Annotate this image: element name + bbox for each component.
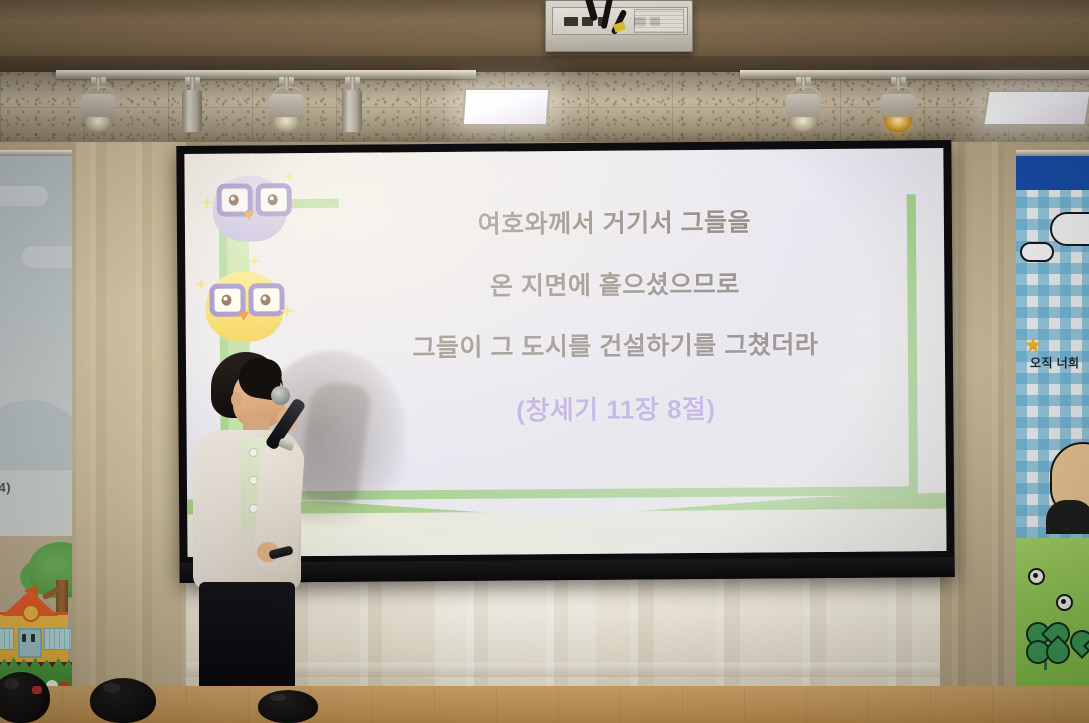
head-highlight — [103, 683, 120, 693]
banner-right-character-hair — [1046, 500, 1089, 534]
banner-right: 오직 너희 — [1016, 150, 1089, 712]
curtain-hem — [436, 662, 596, 677]
banner-right-clover — [1022, 620, 1076, 676]
banner-left-text: -14) — [0, 480, 58, 495]
track-light-can — [342, 90, 362, 132]
banner-left-roof-window — [22, 604, 40, 622]
ceiling-panel-light-right — [982, 90, 1089, 126]
sparkle-icon — [284, 171, 294, 181]
slide-scripture-reference: (창세기 11장 8절) — [336, 387, 895, 428]
owl-pupil — [268, 194, 278, 205]
head-highlight — [270, 694, 286, 701]
banner-right-flower — [1028, 568, 1045, 585]
stage-floor — [0, 686, 1089, 723]
ceiling-projector — [545, 0, 693, 52]
track-light-1 — [78, 77, 118, 137]
owl-pupil — [260, 294, 270, 305]
owl-lens — [248, 283, 284, 316]
audience-head — [0, 672, 50, 723]
owl-pupil — [221, 295, 231, 306]
track-light-lens — [272, 117, 300, 132]
curtain-hem — [596, 662, 940, 677]
sparkle-icon — [249, 255, 260, 266]
presenter-button — [249, 448, 258, 457]
owl-character-purple-icon — [206, 165, 297, 252]
hair-clip — [32, 686, 42, 694]
owl-lens — [256, 183, 292, 216]
banner-left-door — [18, 628, 42, 658]
track-light-5 — [783, 77, 823, 137]
audience-head — [90, 678, 156, 723]
presenter-ear — [231, 392, 242, 407]
banner-left-sky — [0, 156, 72, 536]
track-light-6 — [878, 77, 918, 139]
curtain-left-panel — [76, 142, 186, 687]
banner-left-door-detail — [22, 634, 26, 642]
banner-right-clover — [1070, 630, 1089, 674]
track-light-3 — [266, 77, 306, 137]
owl-pupil — [229, 195, 239, 206]
projector-spec-label — [634, 9, 684, 33]
microphone-head — [271, 386, 290, 405]
track-light-stem — [190, 77, 195, 90]
banner-left-window — [44, 628, 72, 650]
track-light-can — [182, 90, 202, 132]
audience-head — [258, 690, 318, 723]
presentation-scene: -14) 오직 너희 — [0, 0, 1089, 723]
banner-right-text: 오직 너희 — [1030, 354, 1089, 371]
track-light-4 — [332, 77, 372, 137]
slide-text-block: 여호와께서 거기서 그들을 온 지면에 흩으셨으므로 그들이 그 도시를 건설하… — [335, 208, 896, 454]
banner-left-cloud — [0, 186, 48, 206]
sparkle-icon — [195, 278, 207, 290]
banner-right-cloud — [1020, 242, 1054, 262]
track-light-lens — [84, 117, 112, 132]
banner-right-cloud — [1050, 212, 1089, 246]
owl-beak — [238, 311, 250, 320]
owl-beak — [243, 211, 255, 220]
owl-character-yellow-icon — [199, 257, 296, 352]
banner-left-door-detail — [31, 634, 35, 642]
banner-left: -14) — [0, 150, 72, 712]
head-highlight — [4, 678, 19, 689]
presenter-speaker — [183, 352, 343, 720]
track-light-lens-illuminated — [884, 117, 912, 132]
track-light-lens — [789, 117, 817, 132]
projector-port — [564, 17, 578, 26]
slide-line-1: 여호와께서 거기서 그들을 — [335, 208, 894, 240]
slide-line-2: 온 지면에 흩으셨으므로 — [335, 270, 894, 302]
banner-right-header-band — [1016, 156, 1089, 190]
slide-line-3: 그들이 그 도시를 건설하기를 그쳤더라 — [336, 331, 895, 363]
banner-left-window — [0, 628, 14, 650]
banner-left-cloud — [22, 246, 72, 268]
ceiling-panel-light-center — [462, 88, 551, 126]
track-light-2 — [172, 77, 212, 137]
presenter-button — [249, 476, 258, 485]
track-light-stem — [350, 77, 355, 90]
banner-left-hill — [0, 400, 72, 470]
banner-right-flower — [1056, 594, 1073, 611]
